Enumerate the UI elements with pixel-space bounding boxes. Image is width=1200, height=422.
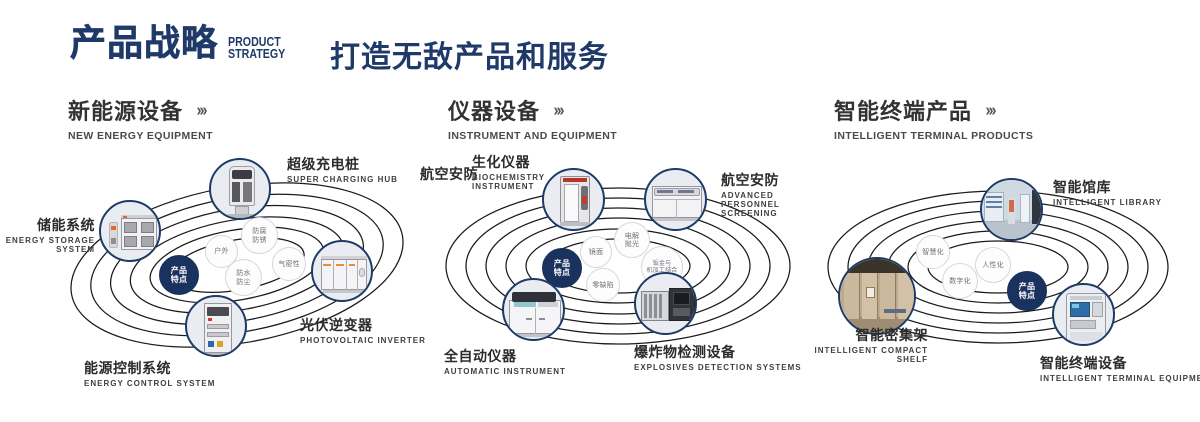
node-energy-storage-system[interactable] bbox=[99, 200, 161, 262]
product-strategy-infographic: 产品战略 PRODUCT STRATEGY 打造无敌产品和服务 新能源设备 ››… bbox=[0, 0, 1200, 422]
label-automatic-instrument: 全自动仪器 AUTOMATIC INSTRUMENT bbox=[444, 346, 566, 376]
battery-cabinet-icon bbox=[101, 202, 159, 260]
feature-bubble-waterproof: 防水 防尘 bbox=[225, 259, 262, 296]
cluster-intelligent-terminal: 智慧化 人性化 数字化 产品 特点 bbox=[820, 165, 1190, 370]
label-super-charging-hub: 超级充电桩 SUPER CHARGING HUB bbox=[287, 154, 398, 184]
detection-unit-icon bbox=[636, 274, 695, 333]
page-title-en-line2: STRATEGY bbox=[228, 48, 285, 60]
label-advanced-personnel-screening: 航空安防 ADVANCED PERSONNEL SCREENING bbox=[721, 170, 817, 218]
label-energy-control-system: 能源控制系统 ENERGY CONTROL SYSTEM bbox=[84, 358, 215, 388]
inverter-cabinet-icon bbox=[313, 242, 371, 300]
core-feature-line1: 产品 bbox=[1019, 282, 1035, 292]
node-photovoltaic-inverter[interactable] bbox=[311, 240, 373, 302]
charging-pile-icon bbox=[211, 160, 269, 218]
node-intelligent-compact-shelf[interactable] bbox=[838, 257, 916, 335]
node-super-charging-hub[interactable] bbox=[209, 158, 271, 220]
chevrons-right-icon: ››› bbox=[196, 100, 205, 120]
node-advanced-personnel-screening[interactable] bbox=[644, 168, 707, 231]
label-biochemistry-instrument: 生化仪器 BIOCHEMISTRY INSTRUMENT bbox=[472, 152, 564, 191]
label-explosives-detection-systems: 爆炸物检测设备 EXPLOSIVES DETECTION SYSTEMS bbox=[634, 342, 802, 372]
core-feature-bubble: 产品 特点 bbox=[1007, 271, 1047, 311]
feature-bubble-zero-defect: 零缺陷 bbox=[586, 268, 620, 302]
node-intelligent-terminal-equipment[interactable] bbox=[1052, 283, 1115, 346]
label-intelligent-compact-shelf: 智能密集架 INTELLIGENT COMPACT SHELF bbox=[808, 325, 928, 364]
feature-bubble-airtight: 气密性 bbox=[272, 247, 306, 281]
auto-instrument-icon bbox=[504, 280, 563, 339]
core-feature-bubble: 产品 特点 bbox=[159, 255, 199, 295]
chevrons-right-icon: ››› bbox=[553, 100, 562, 120]
core-feature-line2: 特点 bbox=[171, 275, 187, 285]
control-cabinet-icon bbox=[187, 297, 245, 355]
feature-bubble-mirror-finish: 镜面 bbox=[580, 236, 612, 268]
section-title-cn: 智能终端产品 bbox=[834, 94, 972, 126]
page-slogan: 打造无敌产品和服务 bbox=[330, 32, 609, 76]
section-title-cn: 新能源设备 bbox=[68, 94, 183, 126]
screening-machine-icon bbox=[646, 170, 705, 229]
section-header-instrument: 仪器设备 ››› INSTRUMENT AND EQUIPMENT bbox=[448, 94, 617, 142]
core-feature-line2: 特点 bbox=[554, 268, 570, 278]
label-aviation-security-left: 航空安防 bbox=[406, 164, 478, 184]
label-photovoltaic-inverter: 光伏逆变器 PHOTOVOLTAIC INVERTER bbox=[300, 315, 426, 345]
cluster-new-energy: 产品 特点 户外 防腐 防锈 防水 防尘 气密性 bbox=[55, 155, 415, 370]
node-automatic-instrument[interactable] bbox=[502, 278, 565, 341]
node-energy-control-system[interactable] bbox=[185, 295, 247, 357]
feature-bubble-intelligent: 智慧化 bbox=[916, 235, 950, 269]
core-feature-line2: 特点 bbox=[1019, 291, 1035, 301]
section-title-en: INTELLIGENT TERMINAL PRODUCTS bbox=[834, 130, 1033, 142]
section-title-en: INSTRUMENT AND EQUIPMENT bbox=[448, 130, 617, 142]
section-title-cn: 仪器设备 bbox=[448, 94, 540, 126]
label-energy-storage-system: 储能系统 ENERGY STORAGE SYSTEM bbox=[0, 215, 95, 254]
core-feature-line1: 产品 bbox=[171, 266, 187, 276]
node-explosives-detection-systems[interactable] bbox=[634, 272, 697, 335]
page-title-en: PRODUCT STRATEGY bbox=[228, 36, 285, 60]
chevrons-right-icon: ››› bbox=[985, 100, 994, 120]
compact-shelf-icon bbox=[840, 259, 914, 333]
library-room-icon bbox=[982, 180, 1041, 239]
section-header-intelligent: 智能终端产品 ››› INTELLIGENT TERMINAL PRODUCTS bbox=[834, 94, 1033, 142]
label-intelligent-terminal-equipment: 智能终端设备 INTELLIGENT TERMINAL EQUIPMENT bbox=[1040, 353, 1200, 383]
section-header-new-energy: 新能源设备 ››› NEW ENERGY EQUIPMENT bbox=[68, 94, 213, 142]
kiosk-terminal-icon bbox=[1054, 285, 1113, 344]
page-title: 产品战略 bbox=[70, 26, 218, 62]
cluster-instrument: 产品 特点 镜面 电解 抛光 钣金与 机加工结合 零缺陷 bbox=[438, 160, 803, 370]
section-title-en: NEW ENERGY EQUIPMENT bbox=[68, 130, 213, 142]
feature-bubble-humanized: 人性化 bbox=[975, 247, 1011, 283]
feature-bubble-anticorrosion: 防腐 防锈 bbox=[241, 217, 278, 254]
feature-bubble-digital: 数字化 bbox=[942, 263, 978, 299]
page-header: 产品战略 PRODUCT STRATEGY bbox=[70, 26, 298, 62]
node-intelligent-library[interactable] bbox=[980, 178, 1043, 241]
label-intelligent-library: 智能馆库 INTELLIGENT LIBRARY bbox=[1053, 177, 1162, 207]
feature-bubble-electropolishing: 电解 抛光 bbox=[614, 222, 650, 258]
core-feature-line1: 产品 bbox=[554, 259, 570, 269]
